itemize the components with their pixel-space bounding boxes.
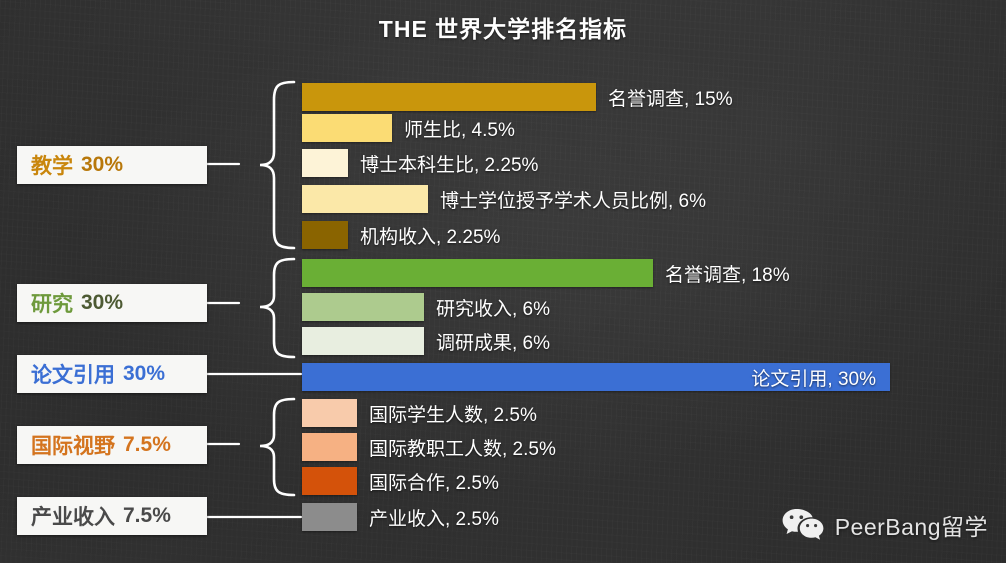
- bar-row[interactable]: 名誉调查, 15%: [302, 83, 733, 111]
- bar-label: 国际学生人数, 2.5%: [369, 400, 537, 427]
- category-percent-research: 30%: [81, 291, 123, 315]
- bar-fill: [302, 149, 348, 177]
- brace-research: [238, 256, 296, 360]
- brace-international: [238, 396, 296, 498]
- slide-canvas: THE 世界大学排名指标 教学 30% 研究 30% 论文引用 30% 国际视野…: [0, 0, 1006, 563]
- brace-teaching: [238, 78, 296, 252]
- connector-industry: [207, 513, 303, 521]
- bar-label: 调研成果, 6%: [436, 328, 550, 355]
- bar-fill: [302, 83, 596, 111]
- bar-label: 产业收入, 2.5%: [369, 504, 499, 531]
- bar-row[interactable]: 名誉调查, 18%: [302, 259, 790, 287]
- bar-fill: [302, 433, 357, 461]
- bar-label: 国际合作, 2.5%: [369, 468, 499, 495]
- watermark: PeerBang留学: [781, 507, 988, 543]
- bar-row[interactable]: 博士学位授予学术人员比例, 6%: [302, 185, 706, 213]
- bar-row[interactable]: 国际合作, 2.5%: [302, 467, 499, 495]
- bar-label: 名誉调查, 18%: [665, 260, 790, 287]
- bar-fill: [302, 293, 424, 321]
- bar-row[interactable]: 产业收入, 2.5%: [302, 503, 499, 531]
- connector-citations: [207, 370, 303, 378]
- bar-row[interactable]: 调研成果, 6%: [302, 327, 550, 355]
- bar-row[interactable]: 机构收入, 2.25%: [302, 221, 500, 249]
- bar-row[interactable]: 国际教职工人数, 2.5%: [302, 433, 556, 461]
- category-box-teaching[interactable]: 教学 30%: [17, 146, 207, 184]
- bar-label: 论文引用, 30%: [751, 364, 876, 391]
- category-name-international: 国际视野: [31, 430, 115, 460]
- category-percent-teaching: 30%: [81, 153, 123, 177]
- bar-row[interactable]: 博士本科生比, 2.25%: [302, 149, 538, 177]
- bar-label: 博士本科生比, 2.25%: [360, 150, 538, 177]
- bar-row[interactable]: 师生比, 4.5%: [302, 114, 515, 142]
- bar-fill: [302, 114, 392, 142]
- connector-teaching: [207, 160, 241, 168]
- category-name-research: 研究: [31, 288, 73, 318]
- bar-fill: [302, 327, 424, 355]
- bar-fill: [302, 221, 348, 249]
- category-percent-industry: 7.5%: [123, 504, 171, 528]
- bar-fill: [302, 467, 357, 495]
- bar-label: 国际教职工人数, 2.5%: [369, 434, 556, 461]
- category-box-research[interactable]: 研究 30%: [17, 284, 207, 322]
- bar-row[interactable]: 国际学生人数, 2.5%: [302, 399, 537, 427]
- category-name-teaching: 教学: [31, 150, 73, 180]
- bar-label: 研究收入, 6%: [436, 294, 550, 321]
- bar-fill: [302, 259, 653, 287]
- connector-research: [207, 299, 241, 307]
- wechat-icon: [781, 507, 825, 543]
- category-name-citations: 论文引用: [31, 359, 115, 389]
- category-box-international[interactable]: 国际视野 7.5%: [17, 426, 207, 464]
- bar-label: 机构收入, 2.25%: [360, 222, 500, 249]
- category-box-industry[interactable]: 产业收入 7.5%: [17, 497, 207, 535]
- category-box-citations[interactable]: 论文引用 30%: [17, 355, 207, 393]
- connector-international: [207, 440, 241, 448]
- bar-row[interactable]: 论文引用, 30%: [302, 363, 890, 391]
- category-percent-citations: 30%: [123, 362, 165, 386]
- bar-label: 名誉调查, 15%: [608, 84, 733, 111]
- bar-fill: [302, 503, 357, 531]
- watermark-text: PeerBang留学: [835, 508, 988, 542]
- bar-fill: [302, 399, 357, 427]
- bar-label: 师生比, 4.5%: [404, 115, 515, 142]
- bar-fill: [302, 185, 428, 213]
- category-name-industry: 产业收入: [31, 501, 115, 531]
- bar-row[interactable]: 研究收入, 6%: [302, 293, 550, 321]
- page-title: THE 世界大学排名指标: [0, 10, 1006, 44]
- category-percent-international: 7.5%: [123, 433, 171, 457]
- bar-label: 博士学位授予学术人员比例, 6%: [440, 186, 706, 213]
